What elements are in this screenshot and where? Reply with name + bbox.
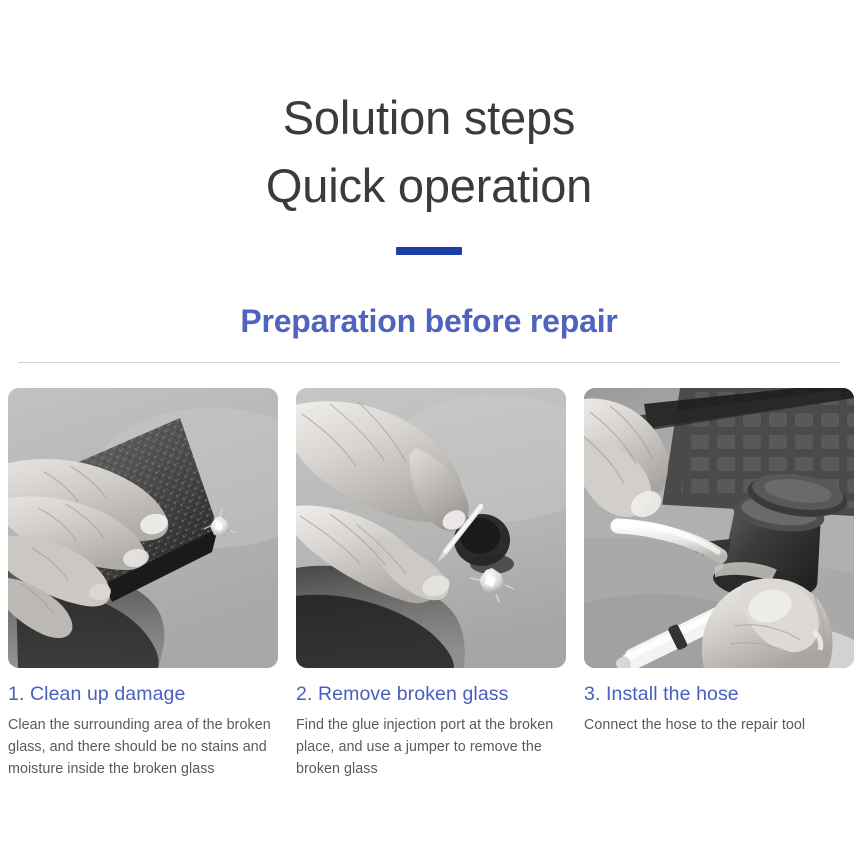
accent-bar-wrap — [0, 242, 858, 260]
photo-hand-using-jumper-pin-on-chip — [296, 388, 566, 668]
page-title-line-1: Solution steps — [0, 84, 858, 152]
photo-hand-wiping-glass-with-cloth — [8, 388, 278, 668]
step-description-3: Connect the hose to the repair tool — [584, 715, 854, 737]
step-card-2: 2. Remove broken glass Find the glue inj… — [296, 388, 566, 780]
step-title-3: 3. Install the hose — [584, 683, 854, 706]
photo-hand-attaching-hose-to-repair-tool — [584, 388, 854, 668]
step-description-1: Clean the surrounding area of the broken… — [8, 715, 278, 780]
step-card-3: 3. Install the hose Connect the hose to … — [584, 388, 854, 780]
section-heading: Preparation before repair — [0, 303, 858, 340]
page-title-block: Solution steps Quick operation — [0, 0, 858, 260]
accent-bar — [396, 247, 462, 255]
step-description-2: Find the glue injection port at the brok… — [296, 715, 566, 780]
steps-row: 1. Clean up damage Clean the surrounding… — [0, 388, 858, 780]
step-title-1: 1. Clean up damage — [8, 683, 278, 706]
solution-steps-page: Solution steps Quick operation Preparati… — [0, 0, 858, 858]
page-title-line-2: Quick operation — [0, 152, 858, 220]
step-title-2: 2. Remove broken glass — [296, 683, 566, 706]
section-divider — [18, 362, 840, 363]
step-card-1: 1. Clean up damage Clean the surrounding… — [8, 388, 278, 780]
